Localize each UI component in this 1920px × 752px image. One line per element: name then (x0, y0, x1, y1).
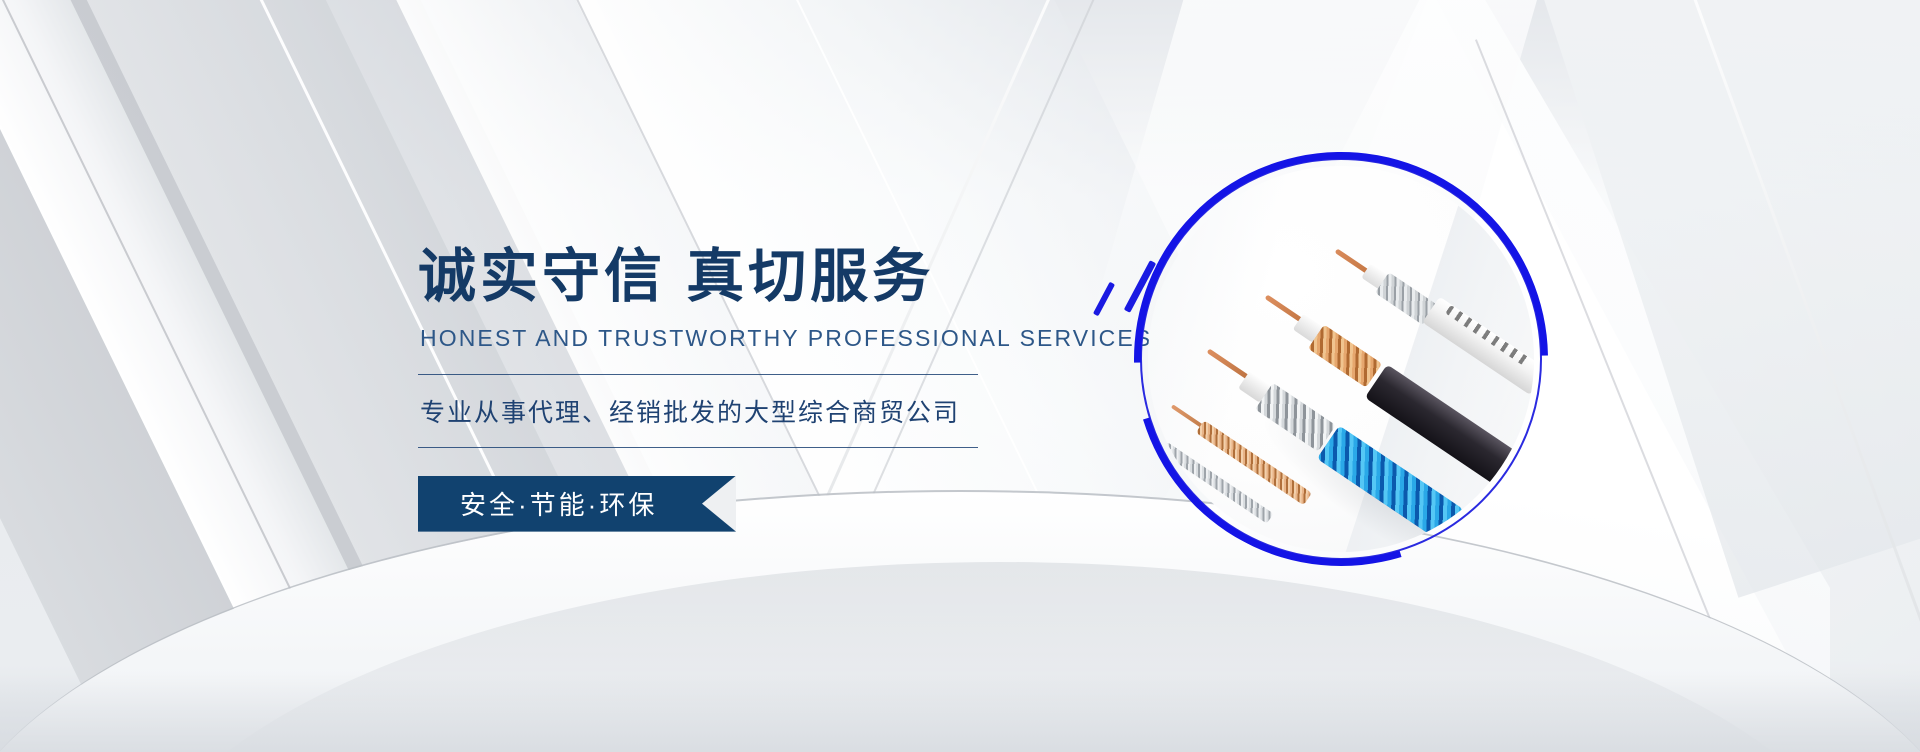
feature-ribbon-badge: 安全·节能·环保 (418, 476, 736, 532)
divider-top (418, 374, 978, 375)
divider-bottom (418, 447, 978, 448)
banner-subheadline: HONEST AND TRUSTWORTHY PROFESSIONAL SERV… (420, 325, 1078, 352)
hero-banner: 诚实守信 真切服务 HONEST AND TRUSTWORTHY PROFESS… (0, 0, 1920, 752)
background-base-gradient (0, 674, 1920, 752)
banner-tagline: 专业从事代理、经销批发的大型综合商贸公司 (420, 393, 1078, 429)
feature-ribbon-label: 安全·节能·环保 (460, 485, 657, 522)
banner-headline: 诚实守信 真切服务 (418, 246, 1078, 309)
medallion-ring-arc-bottom (1061, 79, 1621, 639)
product-medallion (1140, 158, 1542, 560)
banner-text-block: 诚实守信 真切服务 HONEST AND TRUSTWORTHY PROFESS… (418, 246, 1078, 532)
